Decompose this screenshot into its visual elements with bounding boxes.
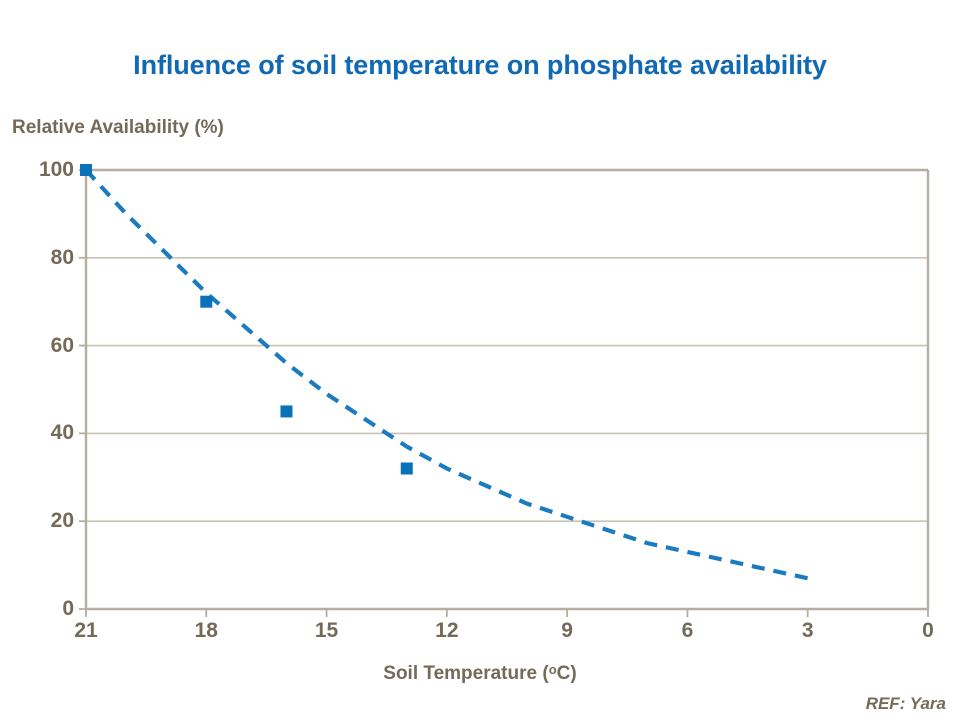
plot-area — [86, 170, 928, 609]
data-point-0 — [80, 164, 92, 176]
y-axis-title: Relative Availability (%) — [12, 117, 224, 139]
y-tick-label-40: 40 — [12, 422, 74, 443]
y-tick-label-60: 60 — [12, 335, 74, 356]
chart-figure: Influence of soil temperature on phospha… — [0, 0, 960, 720]
x-tick-label-6: 6 — [657, 620, 717, 641]
degree-symbol: o — [549, 662, 557, 677]
x-tick-label-15: 15 — [297, 620, 357, 641]
trend-line-dashed — [86, 170, 808, 578]
y-tick-label-20: 20 — [12, 510, 74, 531]
y-tick-label-100: 100 — [12, 159, 74, 180]
x-axis-title-suffix: C) — [557, 663, 577, 684]
axis-lines — [86, 170, 928, 609]
chart-title: Influence of soil temperature on phospha… — [0, 50, 960, 81]
x-axis-title: Soil Temperature (oC) — [0, 662, 960, 685]
data-point-markers — [80, 164, 413, 475]
data-point-1 — [200, 296, 212, 308]
x-tick-label-0: 0 — [898, 620, 958, 641]
reference-note: REF: Yara — [866, 694, 946, 714]
data-point-2 — [280, 405, 292, 417]
gridlines — [86, 170, 928, 521]
trend-curve — [86, 170, 808, 578]
x-tick-label-18: 18 — [176, 620, 236, 641]
y-tick-label-80: 80 — [12, 247, 74, 268]
axis-tick-marks — [79, 170, 928, 617]
x-tick-label-3: 3 — [778, 620, 838, 641]
x-tick-label-12: 12 — [417, 620, 477, 641]
x-tick-label-9: 9 — [537, 620, 597, 641]
plot-canvas — [86, 170, 928, 609]
x-tick-label-21: 21 — [56, 620, 116, 641]
y-tick-label-0: 0 — [12, 598, 74, 619]
data-point-3 — [401, 463, 413, 475]
x-axis-title-prefix: Soil Temperature ( — [383, 663, 548, 684]
